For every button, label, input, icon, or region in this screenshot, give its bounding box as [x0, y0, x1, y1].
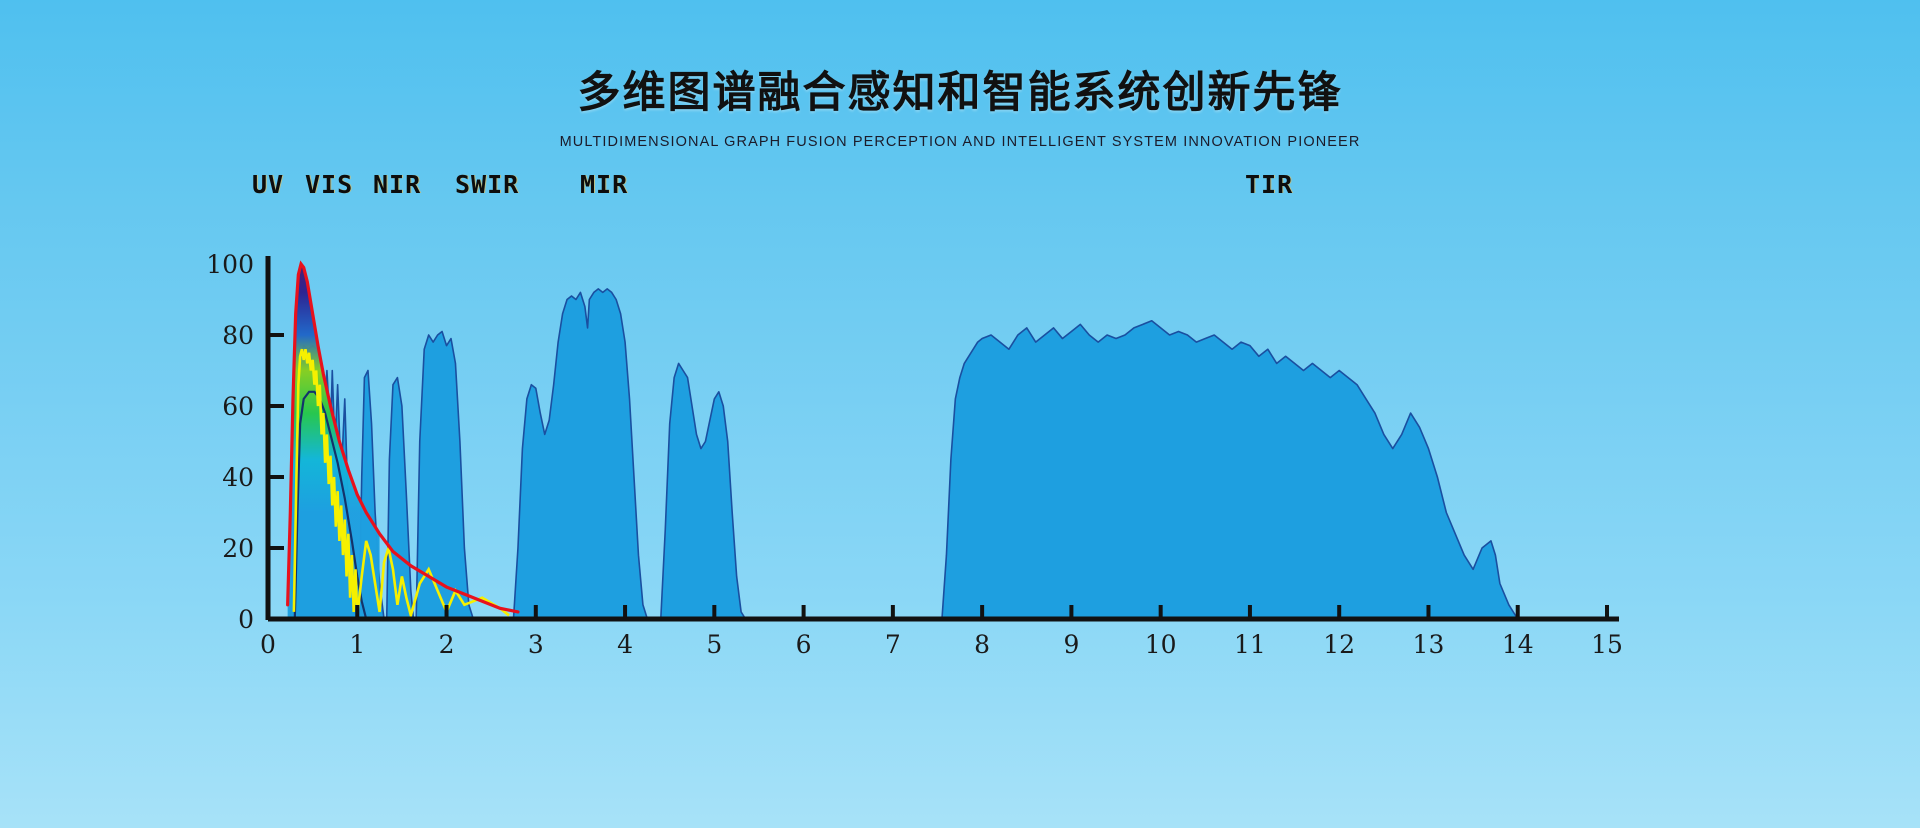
page-title: 多维图谱融合感知和智能系统创新先锋	[0, 58, 1920, 120]
y-tick-label-20: 20	[222, 534, 254, 563]
page-header: 多维图谱融合感知和智能系统创新先锋 MULTIDIMENSIONAL GRAPH…	[0, 0, 1920, 150]
x-tick-label-9: 9	[1063, 630, 1079, 659]
x-tick-label-12: 12	[1323, 630, 1355, 659]
x-tick-label-5: 5	[706, 630, 722, 659]
y-tick-label-100: 100	[206, 250, 254, 279]
x-tick-label-3: 3	[528, 630, 544, 659]
x-tick-label-15: 15	[1591, 630, 1623, 659]
band-label-swir: SWIR	[455, 170, 519, 199]
y-tick-label-80: 80	[222, 321, 254, 350]
y-tick-label-40: 40	[222, 463, 254, 492]
band-label-vis: VIS	[305, 170, 353, 199]
x-tick-label-6: 6	[796, 630, 812, 659]
x-tick-label-14: 14	[1502, 630, 1534, 659]
x-tick-label-13: 13	[1413, 630, 1445, 659]
spectrum-chart: UV VIS NIR SWIR MIR TIR 0204060801000123…	[0, 170, 1920, 690]
band-label-tir: TIR	[1245, 170, 1293, 199]
x-tick-label-8: 8	[974, 630, 990, 659]
x-tick-label-4: 4	[617, 630, 633, 659]
x-tick-label-1: 1	[349, 630, 365, 659]
chart-canvas: 0204060801000123456789101112131415	[0, 204, 1920, 684]
y-tick-label-60: 60	[222, 392, 254, 421]
y-tick-label-0: 0	[238, 605, 254, 634]
transmission-window-1	[513, 289, 745, 619]
band-label-nir: NIR	[373, 170, 421, 199]
x-tick-label-11: 11	[1234, 630, 1266, 659]
page-subtitle: MULTIDIMENSIONAL GRAPH FUSION PERCEPTION…	[0, 134, 1920, 150]
x-tick-label-7: 7	[885, 630, 901, 659]
band-label-uv: UV	[252, 170, 284, 199]
x-tick-label-0: 0	[260, 630, 276, 659]
x-tick-label-10: 10	[1145, 630, 1177, 659]
transmission-window-2	[942, 321, 1518, 619]
band-label-mir: MIR	[580, 170, 628, 199]
x-tick-label-2: 2	[439, 630, 455, 659]
